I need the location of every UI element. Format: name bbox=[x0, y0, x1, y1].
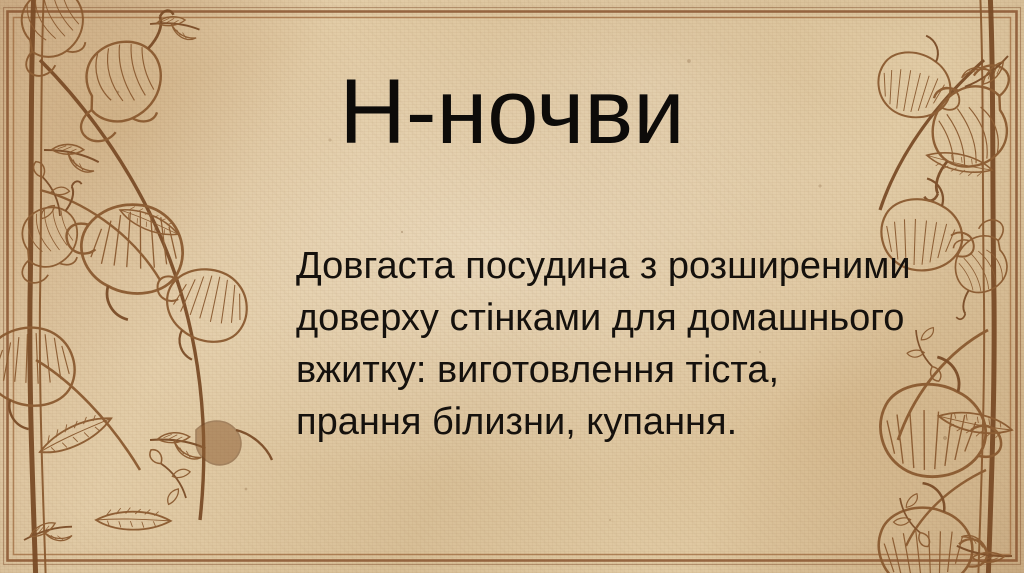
body-line-2: доверху стінками для домашнього bbox=[296, 292, 956, 344]
slide-title: Н-ночви bbox=[0, 62, 1024, 162]
body-line-4: прання білизни, купання. bbox=[296, 396, 956, 448]
slide-body-text: Довгаста посудина з розширеними доверху … bbox=[296, 240, 956, 448]
slide-canvas: Н-ночви Довгаста посудина з розширеними … bbox=[0, 0, 1024, 576]
body-line-1: Довгаста посудина з розширеними bbox=[296, 240, 956, 292]
body-line-3: вжитку: виготовлення тіста, bbox=[296, 344, 956, 396]
